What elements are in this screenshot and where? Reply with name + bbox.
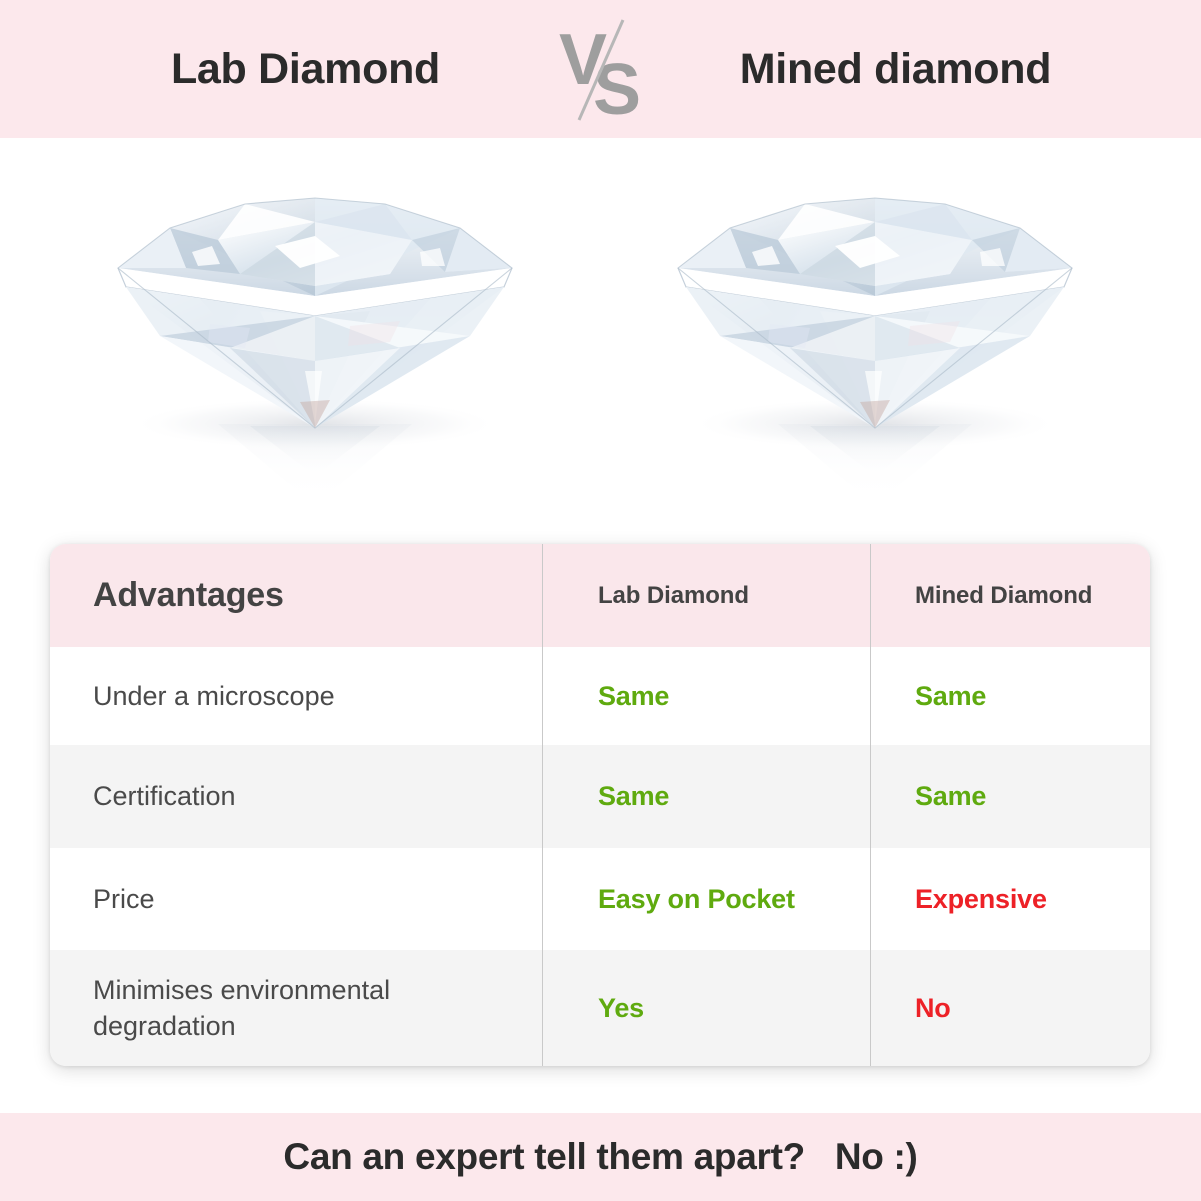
row-feature-label: Under a microscope xyxy=(93,678,335,714)
column-header-advantages-label: Advantages xyxy=(93,576,284,615)
vs-badge: V S xyxy=(541,14,661,124)
row-mined-cell: Expensive xyxy=(870,848,1150,950)
lab-diamond-image xyxy=(100,156,530,516)
row-feature-label: Minimises environmental degradation xyxy=(93,972,523,1045)
row-feature-cell: Under a microscope xyxy=(50,647,542,745)
row-feature-label: Price xyxy=(93,881,155,917)
row-mined-value: Same xyxy=(915,681,986,712)
row-mined-value: No xyxy=(915,993,951,1024)
comparison-table: Advantages Lab Diamond Mined Diamond Und… xyxy=(50,544,1150,1066)
row-lab-cell: Easy on Pocket xyxy=(542,848,870,950)
row-feature-cell: Minimises environmental degradation xyxy=(50,950,542,1066)
column-header-advantages: Advantages xyxy=(50,544,542,647)
diamond-stage xyxy=(0,138,1201,538)
page-title-mined-diamond: Mined diamond xyxy=(661,45,1131,94)
row-lab-value: Easy on Pocket xyxy=(598,884,795,915)
row-lab-cell: Same xyxy=(542,647,870,745)
row-lab-cell: Same xyxy=(542,745,870,848)
row-mined-cell: Same xyxy=(870,647,1150,745)
page-title-lab-diamond: Lab Diamond xyxy=(71,45,541,94)
row-mined-value: Same xyxy=(915,781,986,812)
row-mined-value: Expensive xyxy=(915,884,1047,915)
table-row: Minimises environmental degradation Yes … xyxy=(50,950,1150,1066)
row-feature-cell: Certification xyxy=(50,745,542,848)
row-lab-value: Same xyxy=(598,781,669,812)
table-row: Certification Same Same xyxy=(50,745,1150,848)
header-band: Lab Diamond V S Mined diamond xyxy=(0,0,1201,138)
header-inner: Lab Diamond V S Mined diamond xyxy=(0,14,1201,124)
row-mined-cell: Same xyxy=(870,745,1150,848)
footer-question: Can an expert tell them apart? No :) xyxy=(283,1136,917,1178)
table-row: Under a microscope Same Same xyxy=(50,647,1150,745)
column-header-lab-diamond: Lab Diamond xyxy=(542,544,870,647)
svg-text:S: S xyxy=(593,50,641,124)
column-header-mined-diamond: Mined Diamond xyxy=(870,544,1150,647)
row-feature-label: Certification xyxy=(93,778,236,814)
footer-band: Can an expert tell them apart? No :) xyxy=(0,1113,1201,1201)
table-row: Price Easy on Pocket Expensive xyxy=(50,848,1150,950)
row-lab-value: Same xyxy=(598,681,669,712)
comparison-infographic: Lab Diamond V S Mined diamond xyxy=(0,0,1201,1201)
row-mined-cell: No xyxy=(870,950,1150,1066)
column-header-mined-diamond-label: Mined Diamond xyxy=(915,582,1092,610)
row-lab-cell: Yes xyxy=(542,950,870,1066)
row-feature-cell: Price xyxy=(50,848,542,950)
row-lab-value: Yes xyxy=(598,993,644,1024)
column-header-lab-diamond-label: Lab Diamond xyxy=(598,582,749,610)
table-header-row: Advantages Lab Diamond Mined Diamond xyxy=(50,544,1150,647)
mined-diamond-image xyxy=(660,156,1090,516)
